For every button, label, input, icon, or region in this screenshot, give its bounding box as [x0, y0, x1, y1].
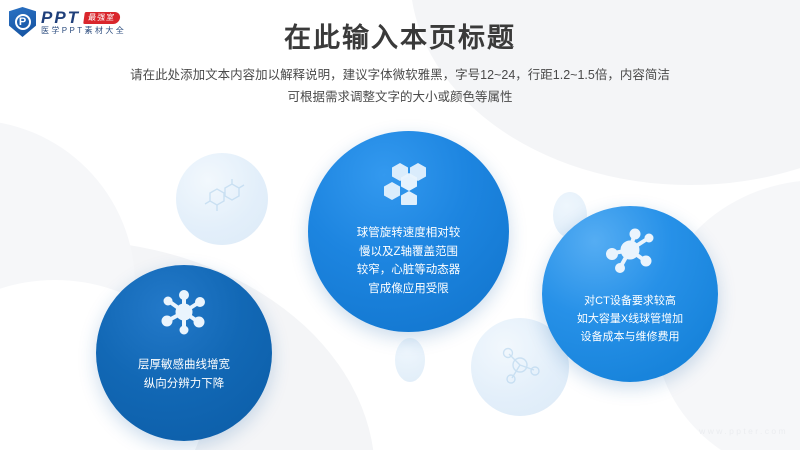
molecule-node-icon — [604, 228, 656, 279]
bubble-middle-line-2: 慢以及Z轴覆盖范围 — [357, 243, 461, 262]
watermark: www.ppter.com — [699, 426, 788, 436]
bubble-left-line-2: 纵向分辨力下降 — [138, 375, 230, 394]
bubble-middle-line-4: 官成像应用受限 — [357, 280, 461, 299]
bubble-right-line-2: 如大容量X线球管增加 — [577, 311, 683, 329]
bubble-right-line-3: 设备成本与维修费用 — [577, 329, 683, 347]
deco-bubble-1 — [176, 153, 268, 245]
bubble-left[interactable]: 层厚敏感曲线增宽 纵向分辨力下降 — [96, 265, 272, 441]
bubble-middle[interactable]: 球管旋转速度相对较 慢以及Z轴覆盖范围 较窄，心脏等动态器 官成像应用受限 — [308, 131, 509, 332]
slide-canvas: P PPT 最强室 医学PPT素材大全 在此输入本页标题 请在此处添加文本内容加… — [0, 0, 800, 450]
bubble-middle-line-1: 球管旋转速度相对较 — [357, 224, 461, 243]
page-subtitle-line-2: 可根据需求调整文字的大小或颜色等属性 — [0, 87, 800, 109]
bubble-right-text: 对CT设备要求较高 如大容量X线球管增加 设备成本与维修费用 — [567, 293, 693, 346]
page-title: 在此输入本页标题 — [0, 16, 800, 55]
bubble-middle-line-3: 较窄，心脏等动态器 — [357, 261, 461, 280]
molecule-outline-icon — [494, 340, 546, 395]
page-subtitle: 请在此处添加文本内容加以解释说明，建议字体微软雅黑，字号12~24，行距1.2~… — [0, 65, 800, 109]
page-subtitle-line-1: 请在此处添加文本内容加以解释说明，建议字体微软雅黑，字号12~24，行距1.2~… — [0, 65, 800, 87]
molecule-hub-icon — [159, 289, 209, 340]
hexagon-cluster-icon — [383, 161, 435, 210]
deco-bubble-4 — [395, 338, 425, 382]
benzene-rings-icon — [198, 175, 246, 224]
bubble-left-line-1: 层厚敏感曲线增宽 — [138, 356, 230, 375]
bubble-left-text: 层厚敏感曲线增宽 纵向分辨力下降 — [120, 356, 248, 393]
bubble-right[interactable]: 对CT设备要求较高 如大容量X线球管增加 设备成本与维修费用 — [542, 206, 718, 382]
bubble-middle-text: 球管旋转速度相对较 慢以及Z轴覆盖范围 较窄，心脏等动态器 官成像应用受限 — [339, 224, 479, 299]
bubble-right-line-1: 对CT设备要求较高 — [577, 293, 683, 311]
